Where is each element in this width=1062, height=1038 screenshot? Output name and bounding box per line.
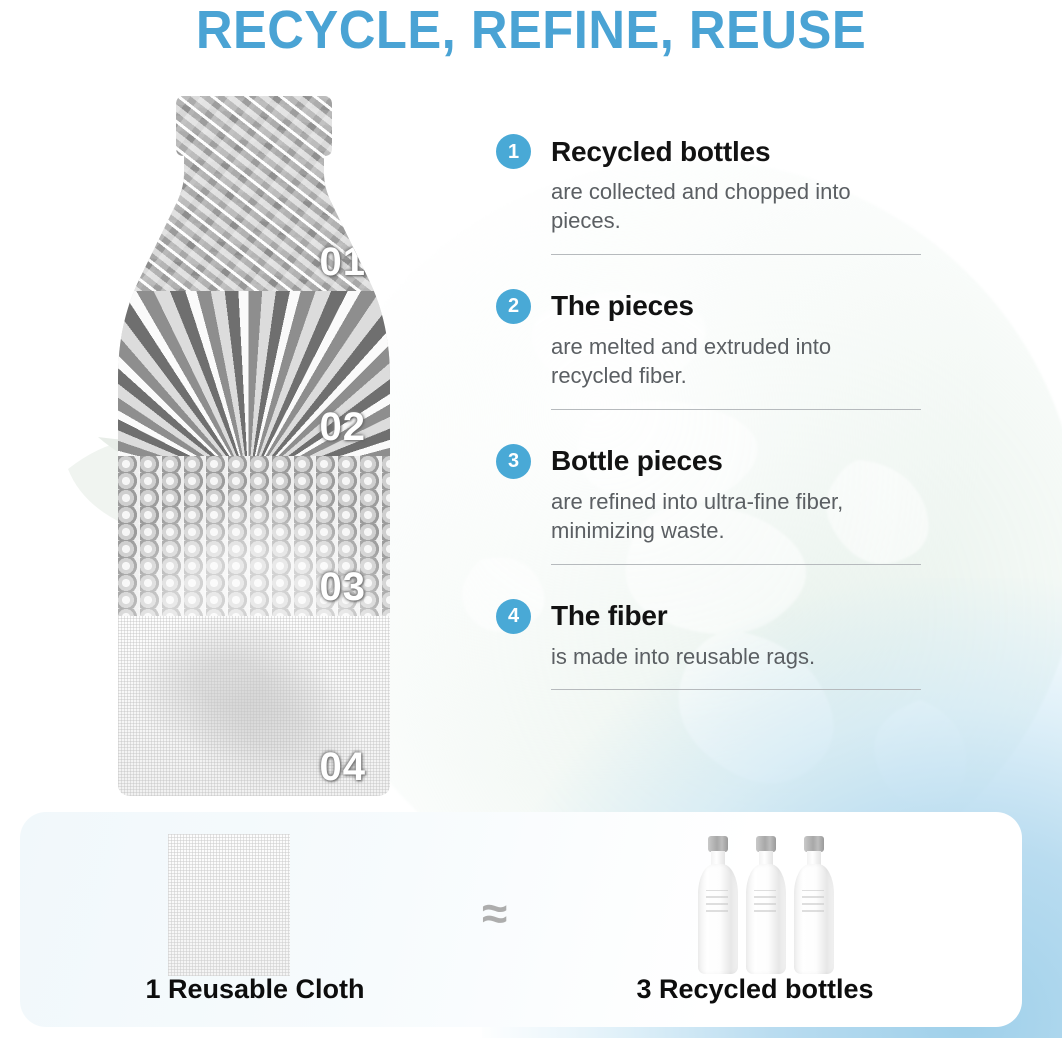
step-header-1: 1 Recycled bottles <box>496 134 924 169</box>
bottle-body <box>698 864 738 974</box>
step-header-2: 2 The pieces <box>496 289 924 324</box>
infographic-page: RECYCLE, REFINE, REUSE 01 02 03 04 1 Rec… <box>0 0 1062 1038</box>
bottle-band-02: 02 <box>118 291 390 456</box>
bottle-cap-icon <box>708 836 728 852</box>
step-title-1: Recycled bottles <box>551 136 770 168</box>
bottle-cap-icon <box>756 836 776 852</box>
comparison-left-caption: 1 Reusable Cloth <box>20 974 490 1005</box>
step-body-3: are refined into ultra-fine fiber, minim… <box>551 487 881 546</box>
band-number-02: 02 <box>320 405 367 450</box>
step-badge-4: 4 <box>496 599 531 634</box>
step-item-1: 1 Recycled bottles are collected and cho… <box>496 134 924 269</box>
page-title: RECYCLE, REFINE, REUSE <box>32 2 1030 59</box>
comparison-card: ≈ 1 Reusable Cloth 3 Recycled bottles <box>20 812 1022 1027</box>
steps-list: 1 Recycled bottles are collected and cho… <box>496 134 924 704</box>
bottle-band-04: 04 <box>118 616 390 796</box>
step-title-4: The fiber <box>551 600 667 632</box>
step-body-1: are collected and chopped into pieces. <box>551 177 881 236</box>
bottle-body <box>794 864 834 974</box>
step-item-3: 3 Bottle pieces are refined into ultra-f… <box>496 424 924 579</box>
step-title-3: Bottle pieces <box>551 445 723 477</box>
bottle-illustration: 01 02 03 04 <box>118 96 390 796</box>
step-divider-2 <box>551 409 921 410</box>
comparison-right-caption: 3 Recycled bottles <box>520 974 990 1005</box>
recycled-bottles-image <box>696 826 844 974</box>
step-divider-4 <box>551 689 921 690</box>
bottle-band-01: 01 <box>118 96 390 291</box>
bottle-silhouette: 01 02 03 04 <box>118 96 390 796</box>
band-number-01: 01 <box>320 240 367 285</box>
bottle-band-03: 03 <box>118 456 390 616</box>
band-number-04: 04 <box>320 745 367 790</box>
step-divider-3 <box>551 564 921 565</box>
step-header-3: 3 Bottle pieces <box>496 444 924 479</box>
bottle-body <box>746 864 786 974</box>
step-body-2: are melted and extruded into recycled fi… <box>551 332 881 391</box>
step-badge-2: 2 <box>496 289 531 324</box>
step-header-4: 4 The fiber <box>496 599 924 634</box>
step-body-4: is made into reusable rags. <box>551 642 881 671</box>
mini-bottle <box>696 836 740 974</box>
step-divider-1 <box>551 254 921 255</box>
step-item-4: 4 The fiber is made into reusable rags. <box>496 579 924 704</box>
step-badge-3: 3 <box>496 444 531 479</box>
step-item-2: 2 The pieces are melted and extruded int… <box>496 269 924 424</box>
step-badge-1: 1 <box>496 134 531 169</box>
bottle-cap-icon <box>804 836 824 852</box>
step-title-2: The pieces <box>551 290 694 322</box>
mini-bottle <box>792 836 836 974</box>
mini-bottle <box>744 836 788 974</box>
approximately-equal-icon: ≈ <box>482 890 507 936</box>
cloth-swatch-image <box>168 834 290 976</box>
band-number-03: 03 <box>320 565 367 610</box>
